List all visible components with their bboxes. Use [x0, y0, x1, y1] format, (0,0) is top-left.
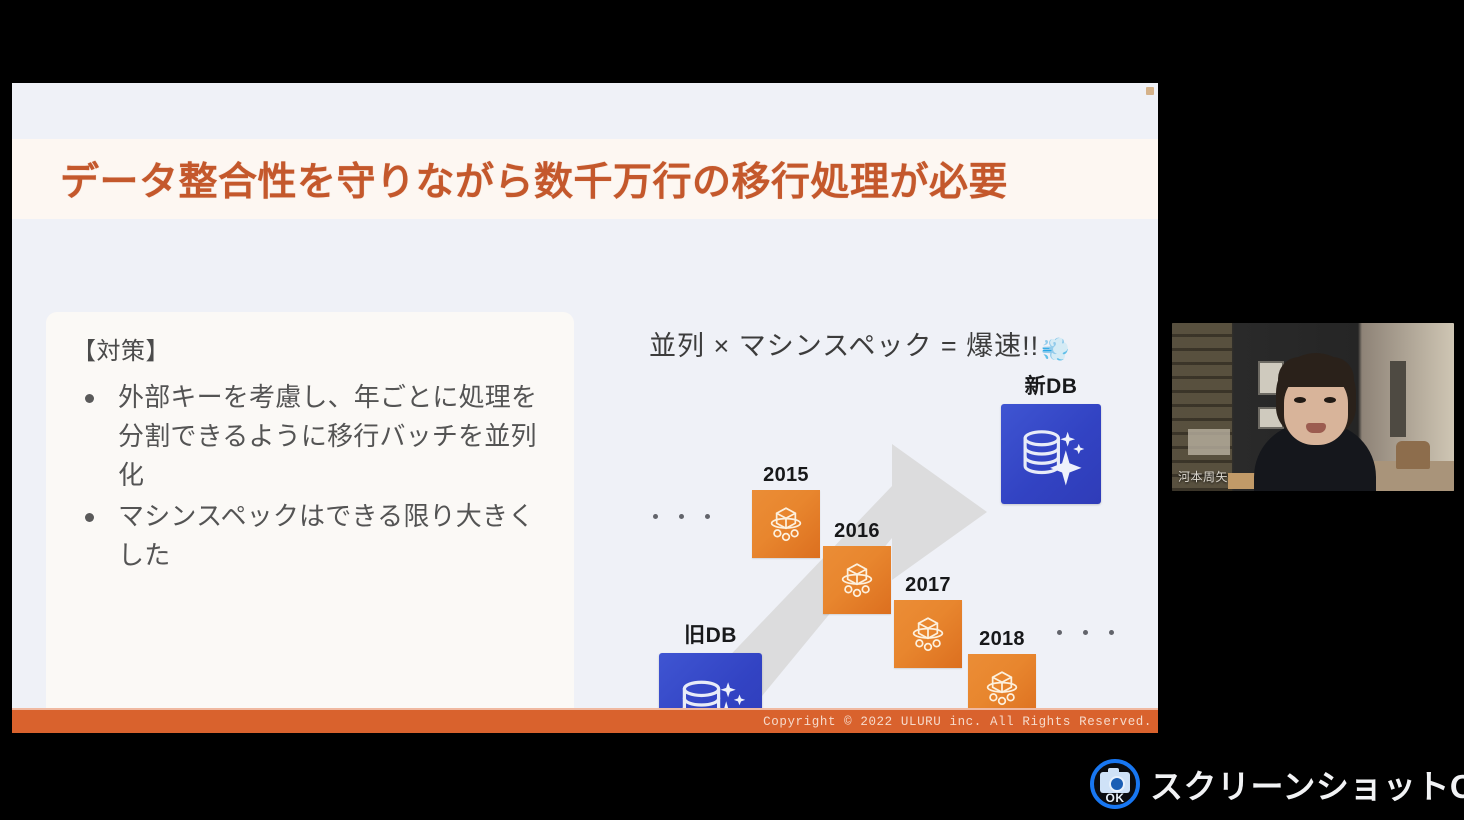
participant-eye: [1324, 397, 1336, 403]
doorway-decor: [1390, 361, 1406, 437]
dot-icon: [679, 514, 684, 519]
webcam-video-tile[interactable]: 河本周矢: [1172, 323, 1454, 491]
dot-icon: [1057, 630, 1062, 635]
measures-heading: 【対策】: [72, 331, 170, 366]
aws-batch-icon: [979, 665, 1025, 711]
dot-icon: [1083, 630, 1088, 635]
ok-stamp-label: OK: [1094, 793, 1136, 804]
database-sparkle-icon: [1014, 417, 1088, 491]
ellipsis-right: [1057, 630, 1114, 635]
list-item: マシンスペックはできる限り大きくした: [72, 497, 558, 575]
participant-mouth: [1306, 423, 1326, 433]
slide-corner-marker-icon: [1146, 87, 1154, 95]
migration-diagram: 並列 × マシンスペック = 爆速!!💨 2015: [587, 312, 1147, 733]
slide-title: データ整合性を守りながら数千万行の移行処理が必要: [60, 151, 1008, 207]
year-label: 2016: [823, 520, 891, 543]
armchair-decor: [1396, 441, 1430, 469]
measures-card: 【対策】 外部キーを考慮し、年ごとに処理を分割できるように移行バッチを並列化 マ…: [46, 312, 574, 733]
target-database-block: 新DB: [1001, 370, 1101, 504]
ellipsis-left: [653, 514, 710, 519]
screenshot-ok-badge: OK スクリーンショットOK: [1090, 759, 1464, 809]
slide-footer-bar: Copyright © 2022 ULURU inc. All Rights R…: [12, 708, 1158, 733]
source-database-label: 旧DB: [659, 619, 762, 649]
camera-icon: [1100, 772, 1130, 793]
batch-job-tile: [752, 490, 820, 558]
dot-icon: [653, 514, 658, 519]
puff-of-smoke-icon: 💨: [1041, 336, 1071, 363]
screen-share-stage: データ整合性を守りながら数千万行の移行処理が必要 【対策】 外部キーを考慮し、年…: [0, 0, 1464, 820]
diagram-heading-text: 並列 × マシンスペック = 爆速!!: [649, 331, 1039, 361]
diagram-heading: 並列 × マシンスペック = 爆速!!💨: [649, 324, 1071, 363]
welcome-sign-decor: [1188, 429, 1230, 455]
year-label: 2017: [894, 574, 962, 597]
bullet-dot-icon: [85, 394, 94, 403]
year-step-2015: 2015: [752, 464, 820, 558]
list-item: 外部キーを考慮し、年ごとに処理を分割できるように移行バッチを並列化: [72, 378, 558, 495]
participant-bangs: [1278, 357, 1354, 387]
year-label: 2015: [752, 464, 820, 487]
year-label: 2018: [968, 628, 1036, 651]
copyright-notice: Copyright © 2022 ULURU inc. All Rights R…: [763, 715, 1152, 729]
target-database-label: 新DB: [1001, 370, 1101, 400]
participant-name-label: 河本周矢: [1178, 468, 1228, 485]
dot-icon: [705, 514, 710, 519]
target-database-tile: [1001, 404, 1101, 504]
participant-eye: [1294, 397, 1306, 403]
camera-badge-icon: OK: [1090, 759, 1140, 809]
bullet-dot-icon: [85, 513, 94, 522]
year-step-2016: 2016: [823, 520, 891, 614]
measure-text: 外部キーを考慮し、年ごとに処理を分割できるように移行バッチを並列化: [118, 382, 537, 490]
measures-list: 外部キーを考慮し、年ごとに処理を分割できるように移行バッチを並列化 マシンスペッ…: [72, 378, 558, 577]
batch-job-tile: [823, 546, 891, 614]
aws-batch-icon: [834, 557, 880, 603]
slide-title-band: データ整合性を守りながら数千万行の移行処理が必要: [12, 139, 1158, 219]
wooden-slats-decor: [1172, 323, 1232, 491]
dot-icon: [1109, 630, 1114, 635]
year-step-2017: 2017: [894, 574, 962, 668]
aws-batch-icon: [905, 611, 951, 657]
screenshot-ok-label: スクリーンショットOK: [1150, 760, 1464, 808]
presentation-slide: データ整合性を守りながら数千万行の移行処理が必要 【対策】 外部キーを考慮し、年…: [12, 83, 1158, 733]
batch-job-tile: [894, 600, 962, 668]
aws-batch-icon: [763, 501, 809, 547]
measure-text: マシンスペックはできる限り大きくした: [118, 501, 534, 570]
